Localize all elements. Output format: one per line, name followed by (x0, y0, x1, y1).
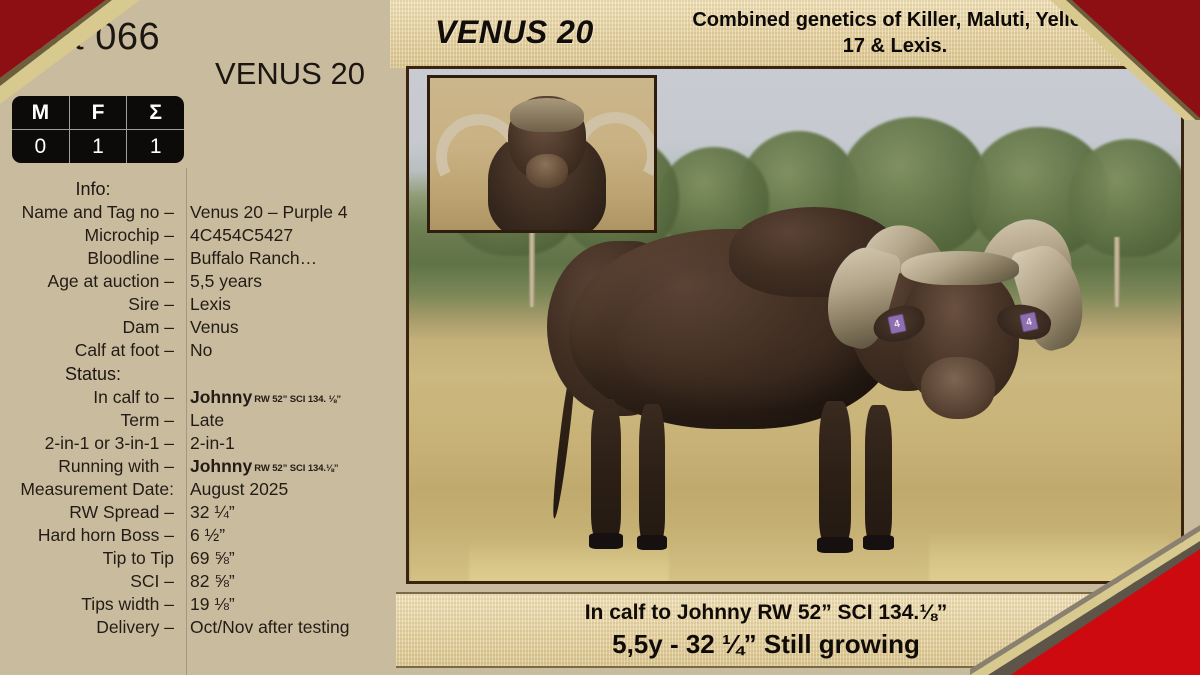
lot-number-title: Lot 066 (0, 16, 190, 59)
detail-row-age: Age at auction – 5,5 years (0, 271, 390, 294)
detail-row-running-with: Running with – JohnnyRW 52” SCI 134.⅛” (0, 456, 390, 479)
table-header-row: M F Σ (12, 96, 184, 130)
row-value: Venus (180, 317, 239, 338)
row-label: RW Spread – (0, 502, 180, 523)
ear-tag-right: 4 (1019, 312, 1038, 333)
row-value: Buffalo Ranch… (180, 248, 317, 269)
buffalo-leg (591, 399, 621, 539)
bull-name: Johnny (190, 456, 252, 476)
row-label: Name and Tag no – (0, 202, 180, 223)
detail-row-microchip: Microchip – 4C454C5427 (0, 225, 390, 248)
header-animal-name: VENUS 20 (435, 14, 594, 51)
header-female: F (69, 96, 127, 129)
inset-buffalo-boss (510, 98, 584, 132)
row-value: 2-in-1 (180, 433, 235, 454)
detail-row-measurement-date: Measurement Date: August 2025 (0, 479, 390, 502)
row-label: Tips width – (0, 594, 180, 615)
header-male: M (12, 96, 69, 129)
table-value-row: 0 1 1 (12, 130, 184, 163)
detail-row-delivery: Delivery – Oct/Nov after testing (0, 617, 390, 640)
value-total: 1 (126, 130, 184, 163)
row-value: Late (180, 410, 224, 431)
row-value: 32 ¼” (180, 502, 235, 523)
row-label: SCI – (0, 571, 180, 592)
row-label: Bloodline – (0, 248, 180, 269)
buffalo-muzzle (921, 357, 995, 419)
buffalo-hoof (863, 535, 894, 550)
male-female-total-table: M F Σ 0 1 1 (12, 96, 184, 163)
detail-row-2in1-or-3in1: 2-in-1 or 3-in-1 – 2-in-1 (0, 433, 390, 456)
row-value: 69 ⅝” (180, 548, 235, 569)
detail-row-name-tag: Name and Tag no – Venus 20 – Purple 4 (0, 202, 390, 225)
caption-banner: In calf to Johnny RW 52” SCI 134.⅛” 5,5y… (396, 592, 1196, 668)
detail-row-dam: Dam – Venus (0, 317, 390, 340)
row-value: Venus 20 – Purple 4 (180, 202, 348, 223)
detail-row-sire: Sire – Lexis (0, 294, 390, 317)
row-value: No (180, 340, 212, 361)
info-section-label: Info: (0, 178, 186, 202)
row-value: 82 ⅝” (180, 571, 235, 592)
row-label: Running with – (0, 456, 180, 477)
detail-row-in-calf-to: In calf to – JohnnyRW 52” SCI 134. ⅛” (0, 387, 390, 410)
auction-lot-slide: Lot 066 VENUS 20 M F Σ 0 1 1 Info: Name … (0, 0, 1200, 675)
inset-photo (427, 75, 657, 233)
buffalo-leg (819, 401, 851, 543)
inset-background-scene (430, 78, 654, 230)
buffalo-cow-figure: 4 4 (529, 189, 1089, 579)
bull-measurements-note: RW 52” SCI 134.⅛” (254, 463, 338, 474)
row-value: JohnnyRW 52” SCI 134.⅛” (180, 456, 338, 477)
row-label: Age at auction – (0, 271, 180, 292)
value-female: 1 (69, 130, 127, 163)
row-label: In calf to – (0, 387, 180, 408)
header-total: Σ (126, 96, 184, 129)
row-value: 6 ½” (180, 525, 225, 546)
main-photo: 4 4 (406, 66, 1184, 584)
details-list: Info: Name and Tag no – Venus 20 – Purpl… (0, 178, 390, 640)
detail-row-term: Term – Late (0, 410, 390, 433)
buffalo-hoof (637, 535, 667, 550)
buffalo-leg (865, 405, 892, 541)
buffalo-horn-boss (901, 251, 1019, 285)
row-value: Oct/Nov after testing (180, 617, 350, 638)
caption-line-1: In calf to Johnny RW 52” SCI 134.⅛” (396, 601, 1136, 625)
buffalo-hoof (589, 533, 623, 549)
detail-row-tips-width: Tips width – 19 ⅛” (0, 594, 390, 617)
inset-buffalo-muzzle (526, 154, 568, 188)
row-value: 19 ⅛” (180, 594, 235, 615)
row-value: Lexis (180, 294, 231, 315)
row-label: 2-in-1 or 3-in-1 – (0, 433, 180, 454)
row-value: 5,5 years (180, 271, 262, 292)
row-label: Sire – (0, 294, 180, 315)
row-label: Measurement Date: (0, 479, 180, 500)
ear-tag-left: 4 (887, 314, 906, 335)
animal-name-heading: VENUS 20 (190, 56, 390, 92)
detail-row-sci: SCI – 82 ⅝” (0, 571, 390, 594)
row-value: JohnnyRW 52” SCI 134. ⅛” (180, 387, 341, 408)
row-label: Hard horn Boss – (0, 525, 180, 546)
detail-row-rw-spread: RW Spread – 32 ¼” (0, 502, 390, 525)
tree-trunk (1114, 237, 1120, 307)
value-male: 0 (12, 130, 69, 163)
status-section-label: Status: (0, 363, 186, 387)
row-label: Term – (0, 410, 180, 431)
row-label: Delivery – (0, 617, 180, 638)
buffalo-hoof (817, 537, 853, 553)
header-genetics-text: Combined genetics of Killer, Maluti, Yel… (680, 7, 1110, 59)
row-value: 4C454C5427 (180, 225, 293, 246)
row-label: Calf at foot – (0, 340, 180, 361)
row-value: August 2025 (180, 479, 288, 500)
detail-row-hard-horn-boss: Hard horn Boss – 6 ½” (0, 525, 390, 548)
row-label: Tip to Tip (0, 548, 180, 569)
photo-and-caption-area: VENUS 20 Combined genetics of Killer, Ma… (390, 0, 1200, 675)
bull-measurements-note: RW 52” SCI 134. ⅛” (254, 394, 341, 405)
row-label: Microchip – (0, 225, 180, 246)
row-label: Dam – (0, 317, 180, 338)
buffalo-leg (639, 404, 665, 542)
detail-row-bloodline: Bloodline – Buffalo Ranch… (0, 248, 390, 271)
caption-line-2: 5,5y - 32 ¼” Still growing (396, 629, 1136, 660)
detail-row-calf-at-foot: Calf at foot – No (0, 340, 390, 363)
bull-name: Johnny (190, 387, 252, 407)
detail-row-tip-to-tip: Tip to Tip 69 ⅝” (0, 548, 390, 571)
